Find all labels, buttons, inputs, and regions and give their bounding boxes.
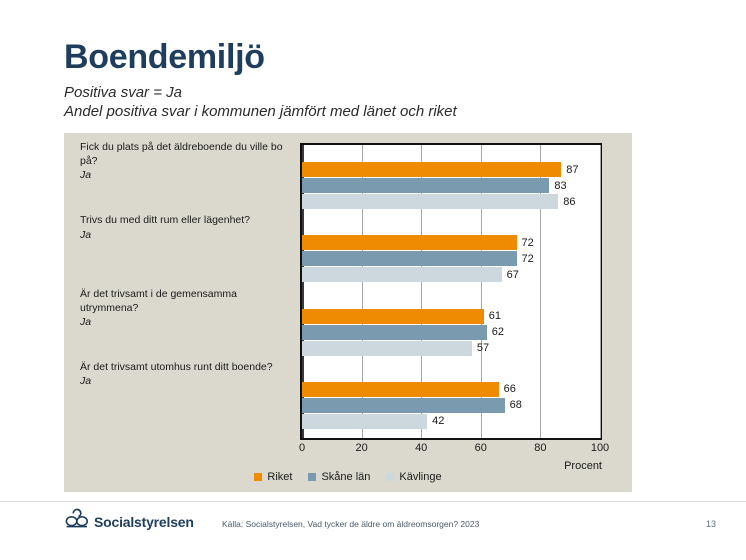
bar-value-label: 62 (487, 326, 504, 338)
legend-item-k-vlinge[interactable]: Kävlinge (386, 471, 441, 483)
x-tick-label: 60 (475, 442, 487, 454)
bar-riket (302, 235, 517, 250)
legend-item-sk-ne-l-n[interactable]: Skåne län (308, 471, 370, 483)
bar-value-label: 42 (427, 415, 444, 427)
bar-value-label: 83 (549, 180, 566, 192)
bar-riket (302, 382, 499, 397)
bar-row: 42 (302, 414, 600, 429)
category-label: Fick du plats på det äldreboende du vill… (80, 140, 294, 183)
bar-row: 66 (302, 382, 600, 397)
x-tick-label: 80 (534, 442, 546, 454)
bar-group: 666842 (302, 382, 600, 430)
socialstyrelsen-logo: Socialstyrelsen (64, 508, 194, 535)
category-answer: Ja (80, 228, 294, 242)
legend-label: Riket (267, 471, 292, 483)
x-tick-label: 20 (355, 442, 367, 454)
bar-row: 72 (302, 251, 600, 266)
bar-value-label: 68 (505, 399, 522, 411)
bar-row: 72 (302, 235, 600, 250)
logo-wordmark: Socialstyrelsen (94, 514, 194, 530)
category-answer: Ja (80, 374, 294, 388)
bar-sk-ne-l-n (302, 178, 549, 193)
bar-group: 616257 (302, 309, 600, 357)
x-axis-ticks: 020406080100 (300, 442, 602, 460)
page-number: 13 (706, 519, 716, 529)
subtitle-description: Andel positiva svar i kommunen jämfört m… (64, 103, 457, 120)
bar-row: 61 (302, 309, 600, 324)
bar-row: 67 (302, 267, 600, 282)
source-note: Källa: Socialstyrelsen, Vad tycker de äl… (222, 519, 479, 529)
legend-swatch-icon (386, 473, 394, 481)
chart-panel: Fick du plats på det äldreboende du vill… (64, 133, 632, 492)
x-tick-label: 0 (299, 442, 305, 454)
bar-row: 83 (302, 178, 600, 193)
bar-riket (302, 309, 484, 324)
page-title: Boendemiljö (64, 40, 265, 76)
footer-divider (0, 501, 746, 502)
socialstyrelsen-monogram-icon (64, 508, 90, 535)
chart-plot-area: 878386727267616257666842 (300, 143, 602, 440)
bar-k-vlinge (302, 267, 502, 282)
bar-value-label: 57 (472, 342, 489, 354)
bar-value-label: 86 (558, 196, 575, 208)
category-label: Trivs du med ditt rum eller lägenhet?Ja (80, 213, 294, 241)
chart-legend: RiketSkåne länKävlinge (64, 471, 632, 483)
bar-k-vlinge (302, 194, 558, 209)
category-question: Är det trivsamt i de gemensamma utrymmen… (80, 287, 294, 315)
bar-value-label: 72 (517, 237, 534, 249)
bar-row: 86 (302, 194, 600, 209)
bar-row: 68 (302, 398, 600, 413)
category-question: Fick du plats på det äldreboende du vill… (80, 140, 294, 168)
bar-row: 62 (302, 325, 600, 340)
legend-item-riket[interactable]: Riket (254, 471, 292, 483)
bar-k-vlinge (302, 414, 427, 429)
bar-value-label: 67 (502, 269, 519, 281)
x-tick-label: 100 (591, 442, 609, 454)
bar-sk-ne-l-n (302, 325, 487, 340)
category-label-column: Fick du plats på det äldreboende du vill… (80, 133, 298, 492)
bar-row: 57 (302, 341, 600, 356)
category-question: Trivs du med ditt rum eller lägenhet? (80, 213, 294, 227)
bar-sk-ne-l-n (302, 398, 505, 413)
category-label: Är det trivsamt utomhus runt ditt boende… (80, 360, 294, 388)
x-tick-label: 40 (415, 442, 427, 454)
bar-k-vlinge (302, 341, 472, 356)
bar-value-label: 72 (517, 253, 534, 265)
legend-label: Skåne län (321, 471, 370, 483)
bar-row: 87 (302, 162, 600, 177)
category-label: Är det trivsamt i de gemensamma utrymmen… (80, 287, 294, 330)
category-answer: Ja (80, 168, 294, 182)
legend-swatch-icon (308, 473, 316, 481)
bar-value-label: 87 (561, 164, 578, 176)
category-answer: Ja (80, 315, 294, 329)
bar-riket (302, 162, 561, 177)
legend-label: Kävlinge (399, 471, 441, 483)
bar-sk-ne-l-n (302, 251, 517, 266)
gridline (600, 145, 601, 438)
legend-swatch-icon (254, 473, 262, 481)
bar-value-label: 61 (484, 310, 501, 322)
bar-value-label: 66 (499, 383, 516, 395)
bar-group: 727267 (302, 235, 600, 283)
category-question: Är det trivsamt utomhus runt ditt boende… (80, 360, 294, 374)
subtitle-positive-answer: Positiva svar = Ja (64, 84, 182, 101)
bar-group: 878386 (302, 162, 600, 210)
